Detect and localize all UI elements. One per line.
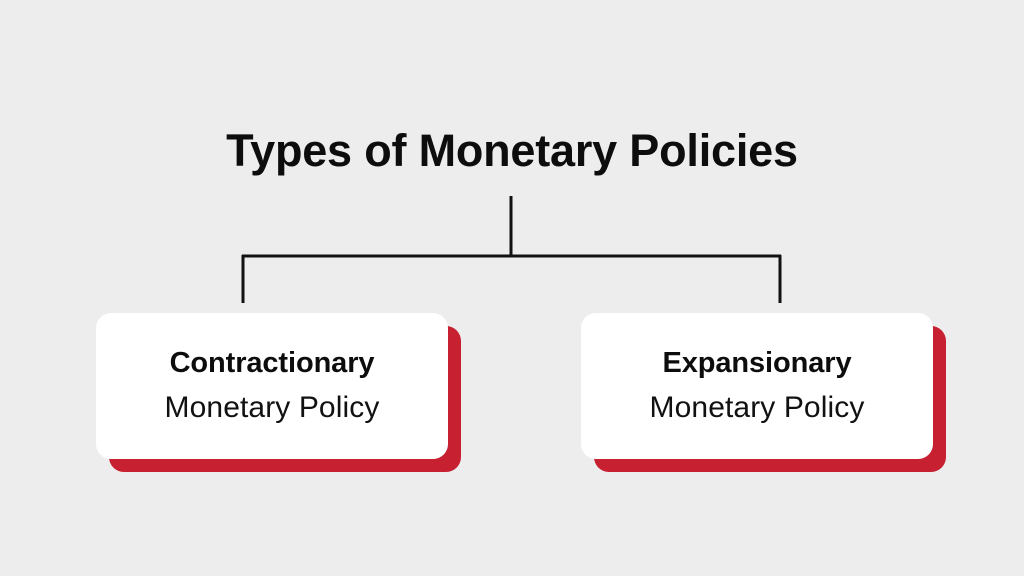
page-title: Types of Monetary Policies	[0, 126, 1024, 176]
node-expansionary[interactable]: Expansionary Monetary Policy	[581, 313, 933, 459]
node-title: Expansionary	[663, 348, 852, 378]
node-face: Expansionary Monetary Policy	[581, 313, 933, 459]
node-subtitle: Monetary Policy	[165, 392, 380, 424]
node-title: Contractionary	[170, 348, 375, 378]
connector-lines	[0, 0, 1024, 576]
node-face: Contractionary Monetary Policy	[96, 313, 448, 459]
node-contractionary[interactable]: Contractionary Monetary Policy	[96, 313, 448, 459]
diagram-canvas: Types of Monetary Policies Contractionar…	[0, 0, 1024, 576]
node-subtitle: Monetary Policy	[650, 392, 865, 424]
